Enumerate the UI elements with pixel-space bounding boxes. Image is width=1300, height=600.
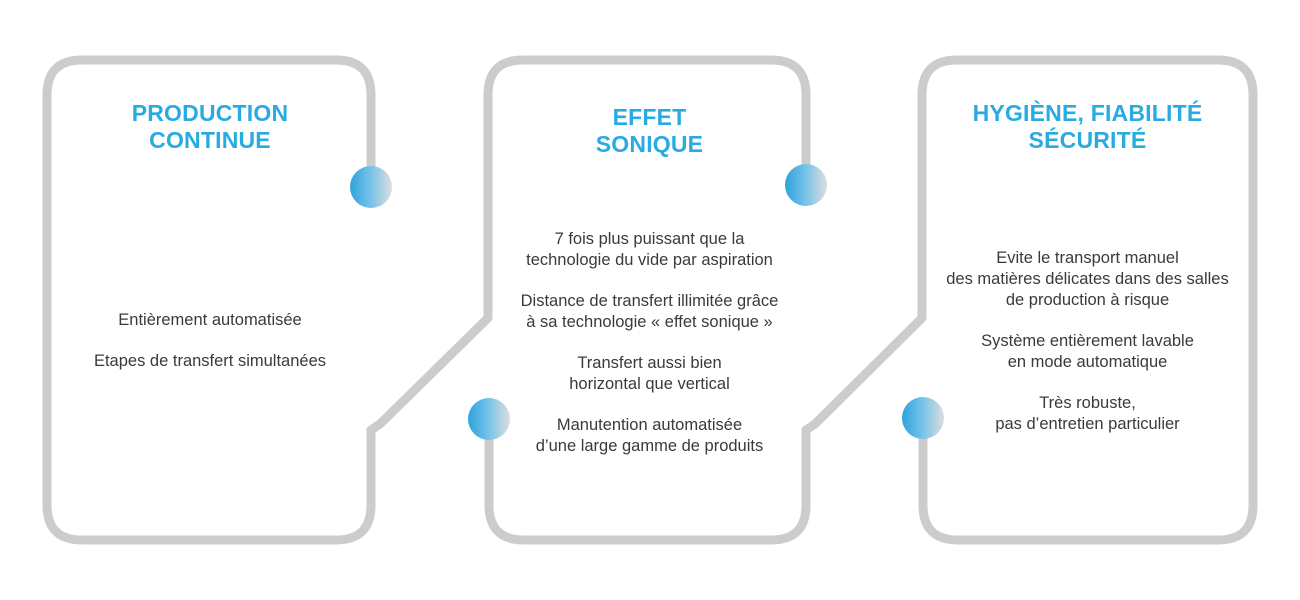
panel-production-body: Entièrement automatisée Etapes de transf… [40, 310, 380, 372]
panel-sonique-body: 7 fois plus puissant que la technologie … [487, 229, 812, 457]
list-item: Système entièrement lavable en mode auto… [925, 331, 1250, 373]
panel-production-title: PRODUCTION CONTINUE [40, 100, 380, 154]
list-item: Manutention automatisée d’une large gamm… [487, 415, 812, 457]
list-item: Evite le transport manuel des matières d… [925, 248, 1250, 311]
node-sonique-top [785, 164, 827, 206]
panel-hygiene-body: Evite le transport manuel des matières d… [925, 248, 1250, 435]
node-production-top [350, 166, 392, 208]
connector-production-to-sonique [371, 205, 488, 430]
panel-hygiene-title: HYGIÈNE, FIABILITÉ SÉCURITÉ [925, 100, 1250, 154]
list-item: Distance de transfert illimitée grâce à … [487, 291, 812, 333]
list-item: Etapes de transfert simultanées [40, 351, 380, 372]
infographic-diagram: PRODUCTION CONTINUE Entièrement automati… [0, 0, 1300, 600]
list-item: Transfert aussi bien horizontal que vert… [487, 353, 812, 395]
connector-sonique-to-hygiene [806, 205, 922, 430]
list-item: Entièrement automatisée [40, 310, 380, 331]
list-item: Très robuste, pas d’entretien particulie… [925, 393, 1250, 435]
panel-sonique-title: EFFET SONIQUE [487, 104, 812, 158]
list-item: 7 fois plus puissant que la technologie … [487, 229, 812, 271]
